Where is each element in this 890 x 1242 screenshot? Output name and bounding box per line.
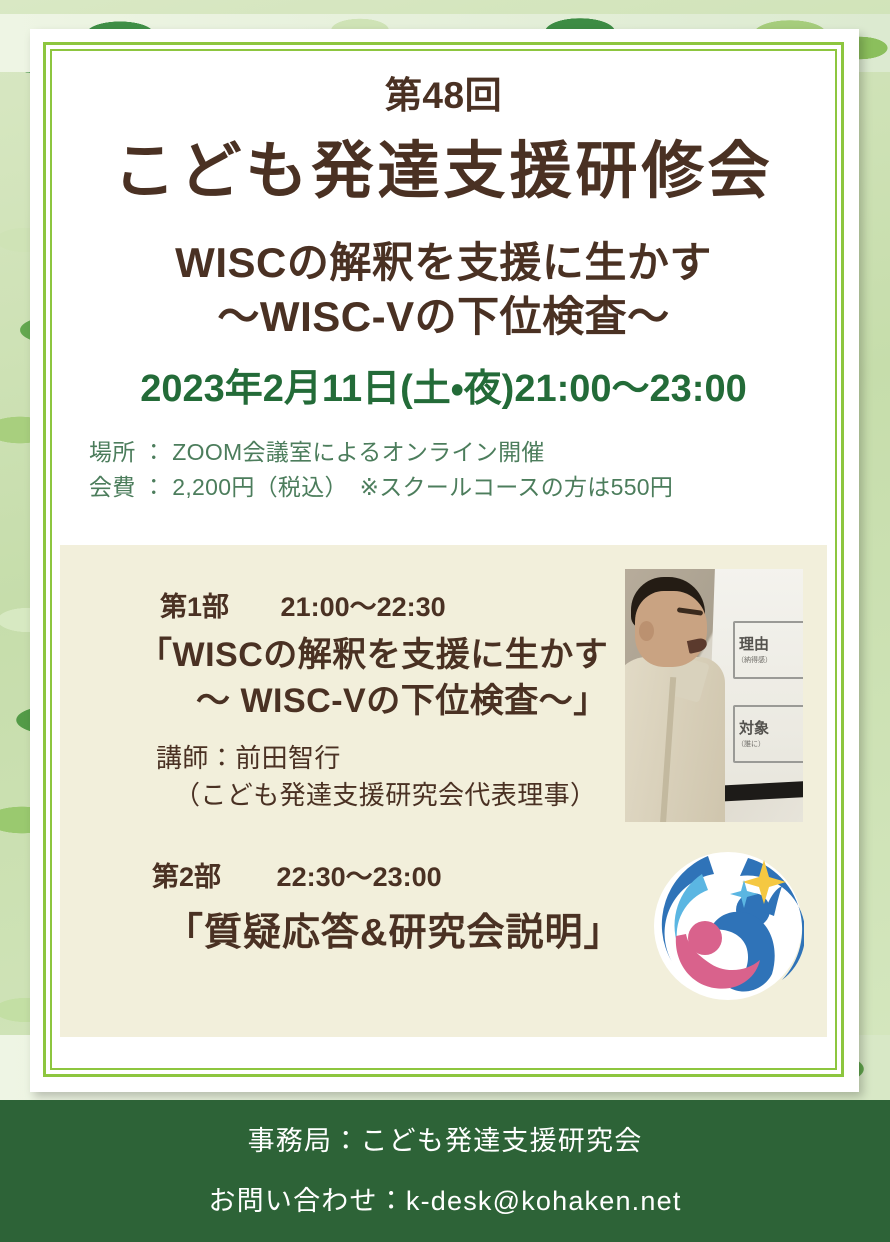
part2-label: 第2部 [152, 862, 221, 892]
slide-box-2-title: 対象 [739, 717, 769, 738]
subtitle: WISCの解釈を支援に生かす 〜WISC-Vの下位検査〜 [56, 236, 831, 344]
subtitle-line-2: 〜WISC-Vの下位検査〜 [56, 290, 831, 344]
part2-header: 第2部 22:30〜23:00 [152, 855, 442, 894]
part1-title: 「WISCの解釈を支援に生かす 〜 WISC-Vの下位検査〜」 [84, 633, 674, 725]
poster-content: 第48回 こども発達支援研修会 WISCの解釈を支援に生かす 〜WISC-Vの下… [56, 55, 831, 1064]
part2-time: 22:30〜23:00 [277, 862, 442, 892]
footer-office: 事務局：こども発達支援研究会 [248, 1128, 643, 1155]
slide-box-2-sub: （誰に） [737, 739, 765, 749]
organization-logo [652, 850, 804, 1002]
event-info: 場所 ： ZOOM会議室によるオンライン開催 会費 ： 2,200円（税込） ※… [89, 435, 831, 505]
programme-panel: 第1部 21:00〜22:30 「WISCの解釈を支援に生かす 〜 WISC-V… [60, 545, 827, 1037]
part1-label: 第1部 [160, 592, 229, 622]
fee-line: 会費 ： 2,200円（税込） ※スクールコースの方は550円 [89, 470, 831, 505]
photo-speaker-ear [639, 621, 654, 641]
part1-title-line-2: 〜 WISC-Vの下位検査〜」 [84, 679, 674, 725]
subtitle-line-1: WISCの解釈を支援に生かす [56, 236, 831, 290]
part1-title-line-1: 「WISCの解釈を支援に生かす [84, 633, 674, 679]
footer: 事務局：こども発達支援研究会 お問い合わせ：k-desk@kohaken.net [0, 1100, 890, 1242]
poster-root: 第48回 こども発達支援研修会 WISCの解釈を支援に生かす 〜WISC-Vの下… [0, 0, 890, 1242]
part1-header: 第1部 21:00〜22:30 [160, 585, 446, 624]
lecturer-affiliation: （こども発達支援研究会代表理事） [156, 777, 686, 814]
slide-box-1-title: 理由 [739, 633, 769, 654]
speaker-photo: 理由 （納得感） 対象 （誰に） [625, 569, 803, 822]
footer-contact: お問い合わせ：k-desk@kohaken.net [208, 1188, 681, 1215]
part2-title: 「質疑応答&研究会説明」 [165, 901, 622, 956]
event-datetime: 2023年2月11日(土・夜)21:00〜23:00 [56, 370, 831, 408]
lecturer-name: 講師：前田智行 [156, 740, 686, 777]
venue-line: 場所 ： ZOOM会議室によるオンライン開催 [89, 435, 831, 470]
lecturer-block: 講師：前田智行 （こども発達支援研究会代表理事） [156, 740, 686, 814]
part1-time: 21:00〜22:30 [281, 592, 446, 622]
edition-label: 第48回 [56, 77, 831, 114]
slide-box-1-sub: （納得感） [737, 655, 772, 665]
page-title: こども発達支援研修会 [56, 139, 831, 204]
